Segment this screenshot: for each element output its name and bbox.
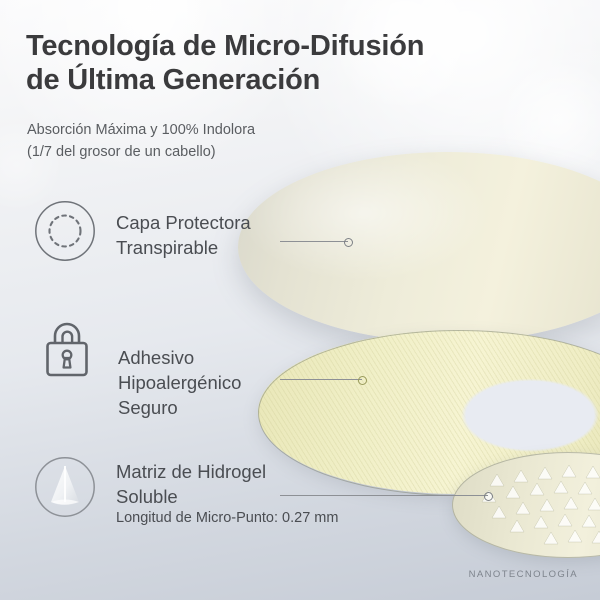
microneedle-array	[452, 452, 600, 556]
infographic-canvas: Tecnología de Micro-Difusión de Última G…	[0, 0, 600, 600]
leader-dot-adhesive	[358, 376, 367, 385]
bokeh-highlight	[552, 230, 600, 326]
feature-label: Adhesivo Hipoalergénico Seguro	[118, 346, 288, 420]
dashed-circle-icon	[34, 200, 96, 262]
page-subtitle: Absorción Máxima y 100% Indolora (1/7 de…	[27, 120, 427, 164]
protective-layer-rim	[238, 166, 600, 356]
padlock-icon	[36, 318, 98, 380]
hydrogel-layer-disc	[452, 452, 600, 558]
leader-dot-hydrogel	[484, 492, 493, 501]
leader-line-adhesive	[280, 379, 362, 380]
micro-point-length-label: Longitud de Micro-Punto: 0.27 mm	[116, 510, 338, 526]
page-title: Tecnología de Micro-Difusión de Última G…	[26, 30, 446, 98]
microneedle-cone-icon	[34, 456, 96, 518]
brand-label: NANOTECNOLOGÍA	[469, 569, 578, 580]
bokeh-highlight	[498, 60, 600, 180]
feature-label: Capa Protectora Transpirable	[116, 211, 346, 261]
feature-label: Matriz de Hidrogel Soluble	[116, 460, 316, 510]
